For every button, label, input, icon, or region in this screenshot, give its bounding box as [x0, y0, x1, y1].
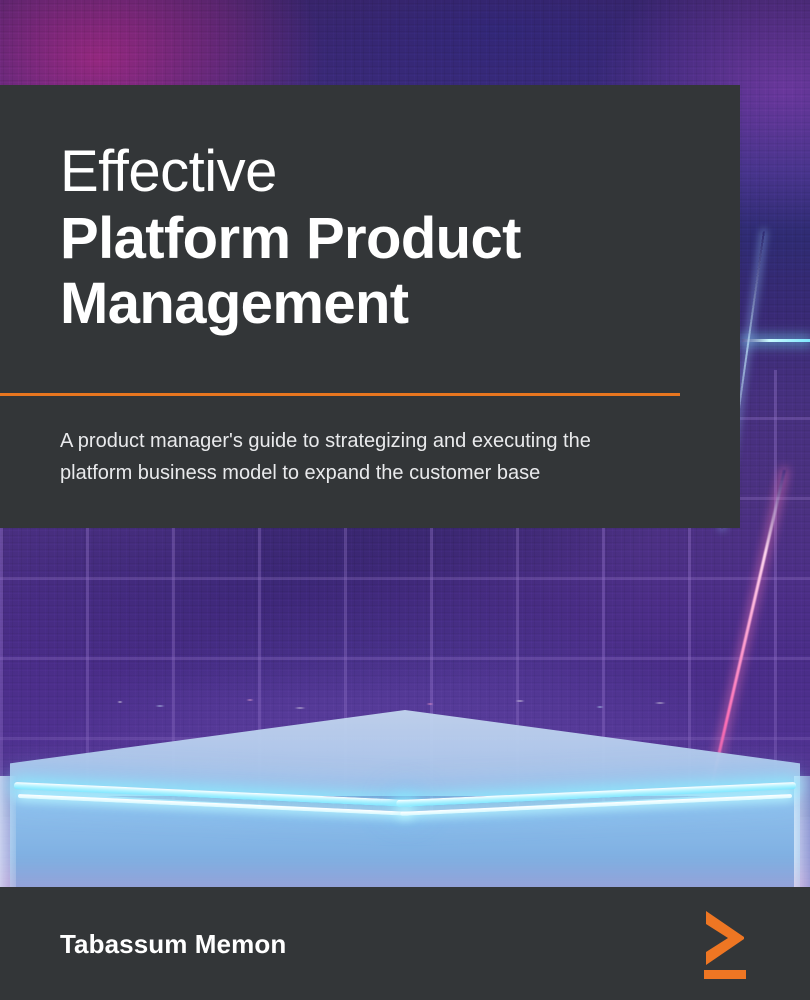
subtitle-line-1: A product manager's guide to strategizin…	[60, 425, 680, 457]
page-title: Platform Product Management	[60, 207, 680, 337]
subtitle: A product manager's guide to strategizin…	[60, 425, 680, 490]
book-cover: Effective Platform Product Management A …	[0, 0, 810, 1000]
orange-divider-rule	[0, 393, 680, 396]
title-panel: Effective Platform Product Management A …	[0, 85, 740, 528]
title-line-1: Platform Product	[60, 207, 680, 272]
neon-light-bar	[742, 339, 810, 342]
title-line-2: Management	[60, 272, 680, 337]
packt-chevron-logo-icon	[698, 909, 756, 981]
author-name: Tabassum Memon	[60, 929, 286, 960]
podium-top-surface	[10, 710, 800, 796]
author-bar: Tabassum Memon	[0, 887, 810, 1000]
title-kicker: Effective	[60, 143, 680, 201]
subtitle-line-2: platform business model to expand the cu…	[60, 457, 680, 489]
